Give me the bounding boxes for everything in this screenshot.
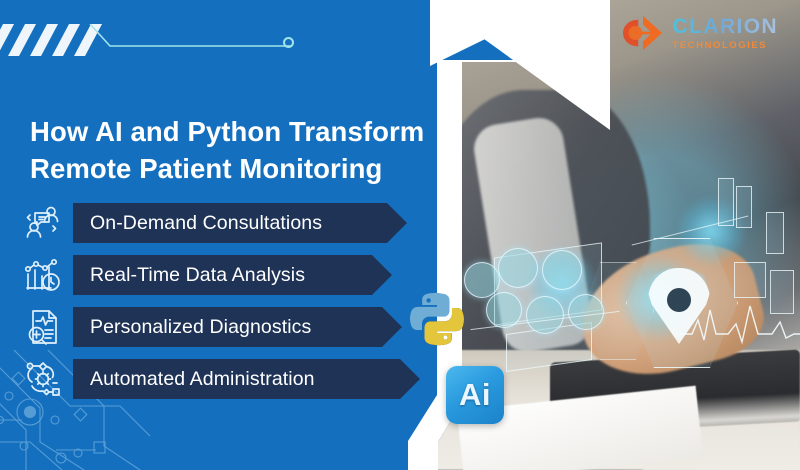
adobe-illustrator-badge: Ai [446,366,504,424]
logo-wordmark: CLARION TECHNOLOGIES [673,16,778,51]
feature-label: Real-Time Data Analysis [90,264,305,287]
feature-banner: Automated Administration [73,359,420,399]
logo-tagline: TECHNOLOGIES [673,41,778,51]
consultation-people-chat-icon [20,200,66,246]
feature-banner: On-Demand Consultations [73,203,407,243]
hud-bar [718,178,734,226]
feature-banner: Real-Time Data Analysis [73,255,392,295]
connector-dot-icon [283,37,294,48]
logo-name: CLARION [673,16,778,37]
medical-report-magnifier-icon [20,304,66,350]
hud-bar [736,186,752,228]
feature-banner: Personalized Diagnostics [73,307,402,347]
python-logo-icon [406,288,468,350]
gear-workflow-icon [20,356,66,402]
brand-logo[interactable]: CLARION TECHNOLOGIES [622,14,778,52]
hud-panel [770,270,794,314]
clarion-logo-mark-icon [622,14,664,52]
bar-chart-clock-icon [20,252,66,298]
promo-banner: CLARION TECHNOLOGIES How AI and Python T… [0,0,800,470]
headline-line-2: Remote Patient Monitoring [30,153,382,184]
list-item[interactable]: Automated Administration [20,353,420,405]
list-item[interactable]: Real-Time Data Analysis [20,249,420,301]
connector-line-icon [86,24,296,48]
list-item[interactable]: On-Demand Consultations [20,197,420,249]
headline-line-1: How AI and Python Transform [30,116,424,147]
feature-label: On-Demand Consultations [90,212,322,235]
feature-list: On-Demand Consultations Real-Time Da [20,197,420,405]
page-title: How AI and Python Transform Remote Patie… [30,114,450,187]
list-item[interactable]: Personalized Diagnostics [20,301,420,353]
hud-bar [766,212,784,254]
feature-label: Personalized Diagnostics [90,316,311,339]
feature-label: Automated Administration [90,368,315,391]
